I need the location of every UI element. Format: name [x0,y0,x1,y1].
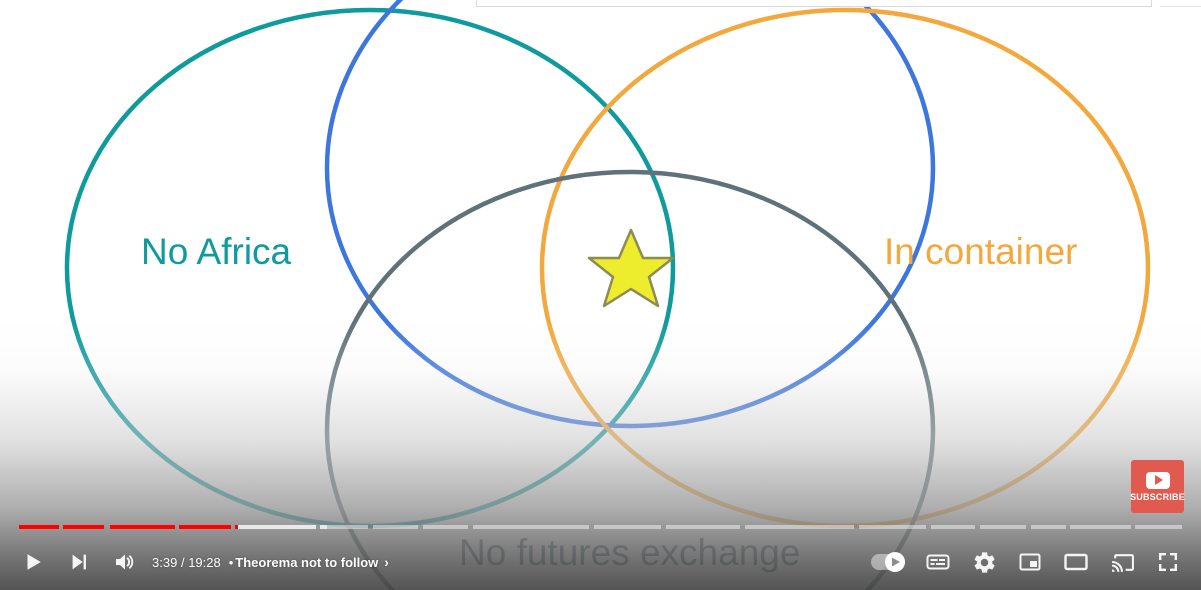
progress-chapter-segment[interactable] [320,525,368,529]
progress-played [19,525,59,529]
progress-chapter-segment[interactable] [110,525,175,529]
player-controls: 3:39 / 19:28 • Theorema not to follow › [0,534,1201,590]
time-display: 3:39 / 19:28 [148,555,227,570]
theater-mode-button[interactable] [1053,538,1099,586]
highlight-star [589,230,673,306]
subtitles-button[interactable] [915,538,961,586]
progress-chapter-segment[interactable] [373,525,418,529]
progress-loaded [320,525,327,529]
time-separator: / [181,555,185,570]
controls-left-group: 3:39 / 19:28 • Theorema not to follow › [0,538,389,586]
progress-chapter-segment[interactable] [235,525,315,529]
controls-right-group [861,538,1201,586]
chapter-title-label: Theorema not to follow [235,555,378,570]
progress-chapter-segment[interactable] [859,525,926,529]
browser-strip-partial [476,0,1152,7]
progress-chapter-segment[interactable] [594,525,661,529]
progress-played [110,525,175,529]
venn-label-no-africa: No Africa [141,231,291,273]
youtube-play-icon [1146,472,1170,489]
chevron-right-icon: › [384,554,389,570]
venn-diagram [0,0,1201,590]
chapter-title-button[interactable]: Theorema not to follow › [235,554,389,570]
play-button[interactable] [10,538,56,586]
progress-chapter-segment[interactable] [63,525,104,529]
browser-strip-partial-right [1160,0,1201,7]
slide-content: No Africa In container No futures exchan… [0,0,1201,590]
progress-chapter-segment[interactable] [179,525,230,529]
progress-chapter-segment[interactable] [980,525,1027,529]
progress-chapter-segment[interactable] [1031,525,1066,529]
next-video-button[interactable] [56,538,102,586]
settings-gear-button[interactable] [961,538,1007,586]
progress-chapter-segment[interactable] [1135,525,1182,529]
subscribe-label: SUBSCRIBE [1130,492,1185,502]
venn-label-in-container: In container [884,231,1077,273]
progress-chapter-segment[interactable] [666,525,740,529]
progress-played [179,525,230,529]
progress-chapter-segment[interactable] [1070,525,1130,529]
miniplayer-button[interactable] [1007,538,1053,586]
progress-played [235,525,237,529]
progress-chapter-segment[interactable] [745,525,854,529]
progress-chapter-segment[interactable] [19,525,59,529]
progress-chapter-segment[interactable] [931,525,975,529]
progress-chapter-segment[interactable] [423,525,468,529]
time-current: 3:39 [152,555,177,570]
blue-circle [327,0,933,426]
time-total: 19:28 [188,555,221,570]
progress-loaded [235,525,315,529]
video-player-stage: No Africa In container No futures exchan… [0,0,1201,590]
volume-button[interactable] [102,538,148,586]
separator-dot: • [227,555,236,570]
cast-button[interactable] [1099,538,1145,586]
progress-played [63,525,104,529]
progress-bar[interactable] [0,520,1201,534]
fullscreen-button[interactable] [1145,538,1191,586]
progress-chapter-segment[interactable] [473,525,589,529]
autoplay-toggle[interactable] [861,538,915,586]
subscribe-button[interactable]: SUBSCRIBE [1131,460,1184,513]
